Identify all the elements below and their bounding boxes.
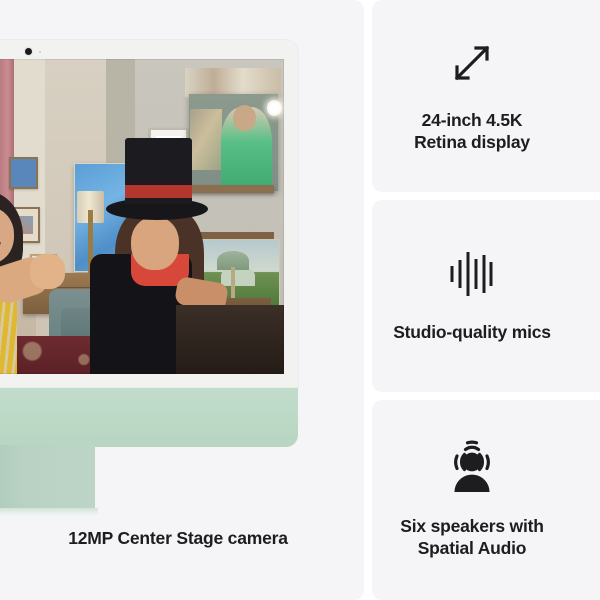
feature-mics: Studio-quality mics <box>372 200 572 392</box>
scene-framed-picture <box>9 157 38 189</box>
camera-feature-label: 12MP Center Stage camera <box>0 528 364 549</box>
scene-woman-hand <box>30 254 65 289</box>
feature-mics-label: Studio-quality mics <box>393 322 551 344</box>
feature-panel-camera: 12MP Center Stage camera <box>0 0 364 600</box>
imac-product-image <box>0 40 300 490</box>
scene-wall-collage <box>185 68 280 96</box>
scene-table-lamp-pole <box>231 267 235 299</box>
expand-arrows-icon <box>447 38 497 88</box>
spatial-audio-person-icon <box>441 440 503 498</box>
imac-screen-content <box>0 59 284 374</box>
feature-panel-display: 24-inch 4.5K Retina display <box>372 0 600 192</box>
feature-speakers-label: Six speakers with Spatial Audio <box>400 516 543 560</box>
imac-stand-foot <box>0 508 98 515</box>
imac-stand-neck <box>0 445 95 510</box>
imac-chin <box>0 387 298 447</box>
feature-panel-mics: Studio-quality mics <box>372 200 600 392</box>
scene-wall-light <box>267 100 283 116</box>
screenshot-root: 12MP Center Stage camera 24-inch 4.5K Re… <box>0 0 600 600</box>
feature-display: 24-inch 4.5K Retina display <box>372 0 572 192</box>
scene-foreground-shadow <box>176 305 284 374</box>
camera-dot-icon <box>25 48 32 55</box>
feature-display-label: 24-inch 4.5K Retina display <box>414 110 530 154</box>
camera-indicator-icon <box>39 51 41 53</box>
scene-wall-map <box>190 109 222 170</box>
scene-video-call-display <box>189 94 278 192</box>
scene-girl-face <box>131 217 179 271</box>
scene-shelf <box>189 185 275 193</box>
feature-speakers: Six speakers with Spatial Audio <box>372 400 572 600</box>
scene-girl-hat-band <box>125 185 192 198</box>
audio-waveform-icon <box>446 248 498 300</box>
feature-panel-speakers: Six speakers with Spatial Audio <box>372 400 600 600</box>
scene-call-participant-head <box>233 105 256 130</box>
